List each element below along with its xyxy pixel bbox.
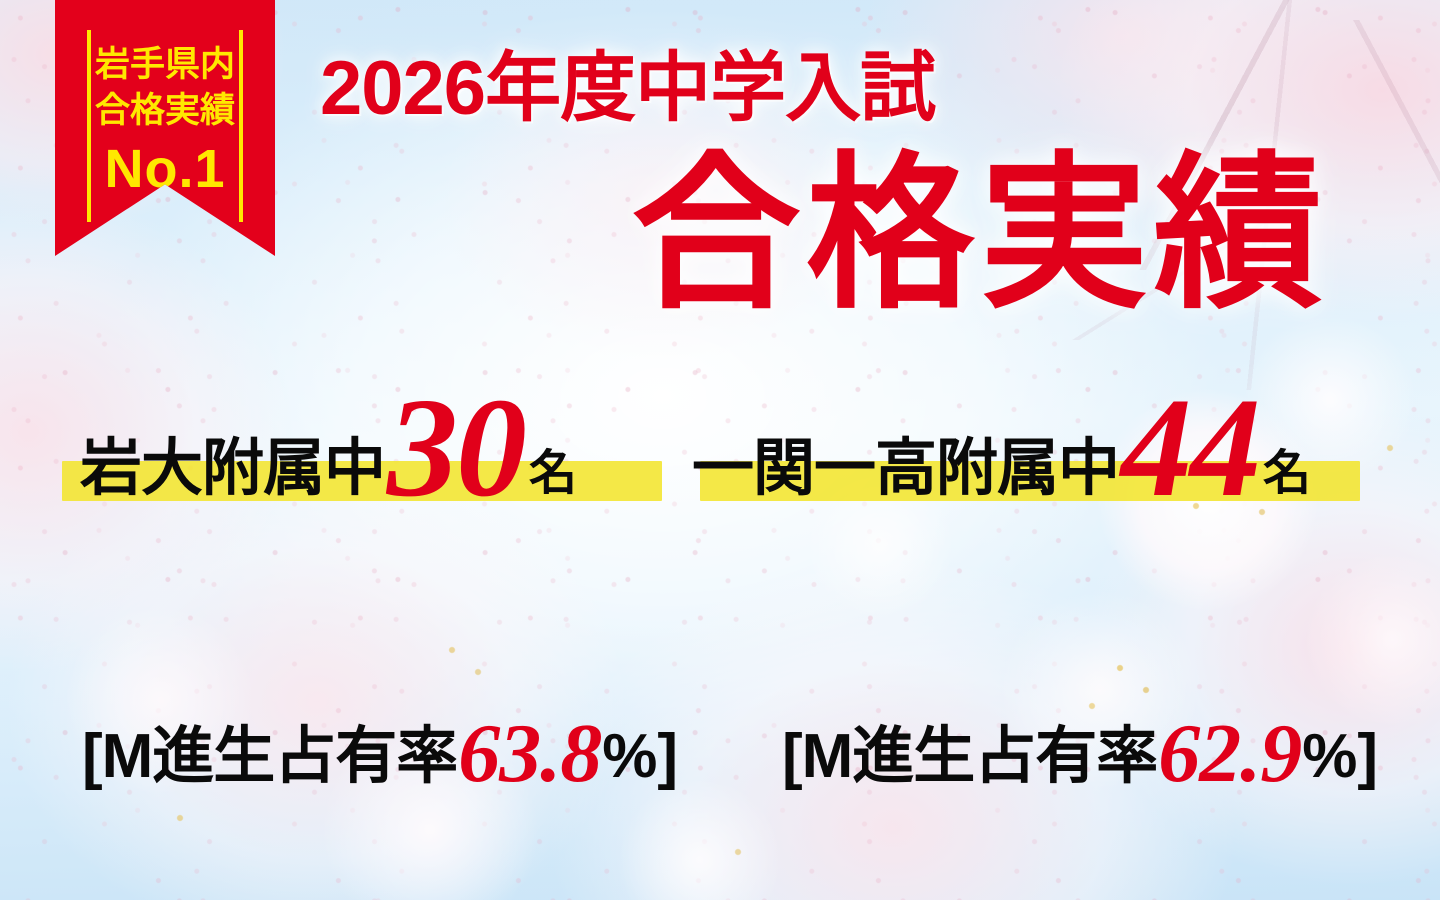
results-row-share: [M進生占有率 63.8 %] [M進生占有率 62.9 %] <box>0 505 1440 625</box>
badge-line-2: 合格実績 <box>55 88 275 134</box>
results-row-counts: 岩大附属中 30 名 一関一高附属中 44 名 <box>0 355 1440 505</box>
pass-count: 44 <box>1121 389 1259 505</box>
results-row-morioka: 盛岡中央高附属中 31 名 ［東大・医進］ 21 名 <box>0 625 1440 775</box>
result-item-iwadai: 岩大附属中 30 名 <box>80 383 577 507</box>
heading-line-1: 2026年度中学入試 <box>320 46 935 132</box>
school-name: 一関一高附属中 <box>692 417 1119 507</box>
results-block: 岩大附属中 30 名 一関一高附属中 44 名 [M進生占有率 63.8 %] … <box>0 355 1440 775</box>
rank-ribbon-badge: 岩手県内 合格実績 No.1 <box>55 0 275 256</box>
poster-canvas: 岩手県内 合格実績 No.1 2026年度中学入試 合格実績 岩大附属中 30 … <box>0 0 1440 900</box>
school-name: 岩大附属中 <box>80 417 385 507</box>
pass-count: 30 <box>387 389 525 505</box>
count-unit: 名 <box>1263 433 1311 503</box>
badge-line-1: 岩手県内 <box>55 42 275 88</box>
result-item-ichinoseki: 一関一高附属中 44 名 <box>692 383 1311 507</box>
count-unit: 名 <box>529 433 577 503</box>
heading-line-2: 合格実績 <box>632 142 1328 326</box>
badge-rank: No.1 <box>55 138 275 200</box>
badge-text-block: 岩手県内 合格実績 No.1 <box>55 42 275 200</box>
